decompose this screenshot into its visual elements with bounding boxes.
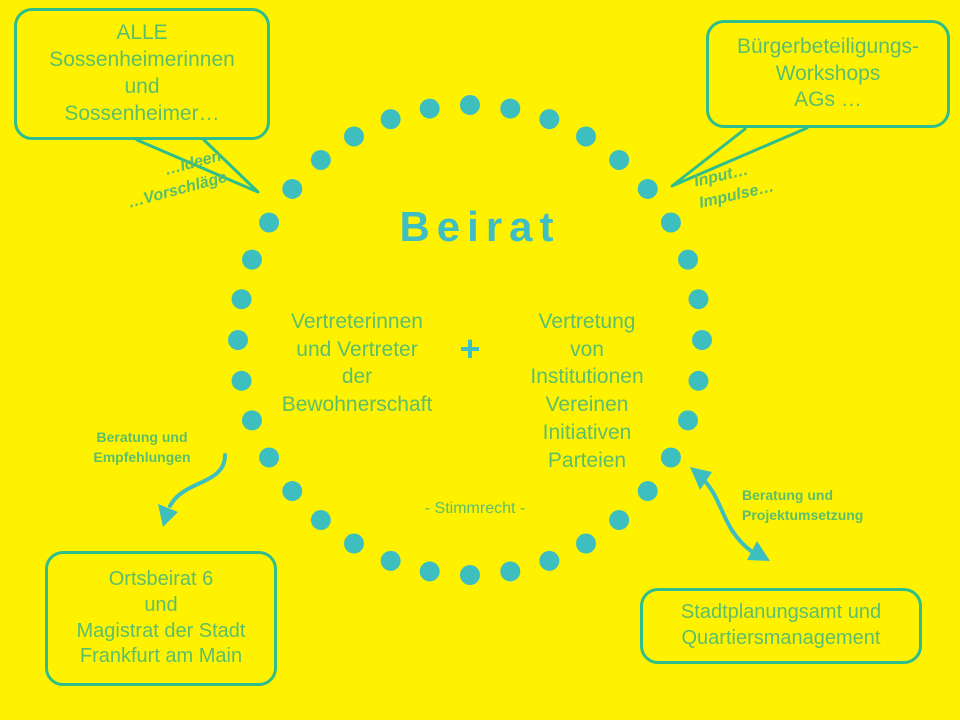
ring-dot bbox=[539, 551, 559, 571]
ring-dot bbox=[500, 99, 520, 119]
callout-all-residents[interactable]: ALLE Sossenheimerinnen und Sossenheimer… bbox=[14, 8, 270, 140]
member-line: und Vertreter bbox=[262, 336, 452, 364]
ring-dot bbox=[242, 250, 262, 270]
callout-stadtplanungsamt[interactable]: Stadtplanungsamt und Quartiersmanagement bbox=[640, 588, 922, 664]
ring-dot bbox=[420, 561, 440, 581]
ring-dot bbox=[282, 481, 302, 501]
ring-dot bbox=[500, 561, 520, 581]
callout-stadtplanungsamt-text: Stadtplanungsamt und Quartiersmanagement bbox=[643, 600, 919, 651]
ring-dot bbox=[576, 534, 596, 554]
callout-ortsbeirat-text: Ortsbeirat 6 und Magistrat der Stadt Fra… bbox=[48, 567, 274, 669]
arrow-beratung-empfehlungen-head bbox=[158, 504, 178, 527]
member-line: Vereinen bbox=[492, 391, 682, 419]
ring-dot bbox=[692, 330, 712, 350]
ring-dot bbox=[638, 179, 658, 199]
callout-line: AGs … bbox=[709, 87, 947, 114]
callout-workshops-text: Bürgerbeteiligungs- Workshops AGs … bbox=[709, 34, 947, 115]
callout-line: Sossenheimerinnen bbox=[17, 47, 267, 74]
ring-dot bbox=[282, 179, 302, 199]
callout-line: ALLE bbox=[17, 20, 267, 47]
ring-dot bbox=[344, 126, 364, 146]
callout-line: Ortsbeirat 6 bbox=[48, 567, 274, 593]
diagram-title: Beirat bbox=[0, 203, 960, 251]
member-line: Institutionen bbox=[492, 363, 682, 391]
ring-dot bbox=[460, 565, 480, 585]
voting-rights-note: - Stimmrecht - bbox=[330, 500, 620, 518]
ring-dot bbox=[539, 109, 559, 129]
member-line: Vertreterinnen bbox=[262, 308, 452, 336]
callout-line: Frankfurt am Main bbox=[48, 644, 274, 670]
member-line: Parteien bbox=[492, 447, 682, 475]
callout-all-residents-text: ALLE Sossenheimerinnen und Sossenheimer… bbox=[17, 20, 267, 128]
callout-ortsbeirat[interactable]: Ortsbeirat 6 und Magistrat der Stadt Fra… bbox=[45, 551, 277, 686]
plus-icon: + bbox=[440, 328, 500, 370]
ring-dot bbox=[381, 109, 401, 129]
ring-dot bbox=[381, 551, 401, 571]
ring-dot bbox=[638, 481, 658, 501]
ring-dot bbox=[228, 330, 248, 350]
arrow-beratung-projektumsetzung-head-up bbox=[690, 467, 712, 490]
diagram-canvas: ALLE Sossenheimerinnen und Sossenheimer…… bbox=[0, 0, 960, 720]
callout-line: Bürgerbeteiligungs- bbox=[709, 34, 947, 61]
ring-dot bbox=[259, 448, 279, 468]
flow-label-line: Projektumsetzung bbox=[742, 507, 863, 523]
ring-dot bbox=[420, 99, 440, 119]
arrow-beratung-projektumsetzung-head-down bbox=[747, 541, 770, 561]
member-line: von bbox=[492, 336, 682, 364]
beirat-members-residents: Vertreterinnen und Vertreter der Bewohne… bbox=[262, 308, 452, 419]
flow-label-beratung-projektumsetzung: Beratung und Projektumsetzung bbox=[742, 486, 917, 525]
flow-label-beratung-empfehlungen: Beratung und Empfehlungen bbox=[72, 428, 212, 467]
ring-dot bbox=[609, 150, 629, 170]
ring-dot bbox=[344, 534, 364, 554]
callout-line: und bbox=[48, 593, 274, 619]
callout-line: Sossenheimer… bbox=[17, 101, 267, 128]
ring-dot bbox=[688, 371, 708, 391]
ring-dot bbox=[232, 371, 252, 391]
beirat-members-institutions: Vertretung von Institutionen Vereinen In… bbox=[492, 308, 682, 474]
ring-dot bbox=[678, 250, 698, 270]
ring-dot bbox=[576, 126, 596, 146]
callout-workshops[interactable]: Bürgerbeteiligungs- Workshops AGs … bbox=[706, 20, 950, 128]
member-line: Bewohnerschaft bbox=[262, 391, 452, 419]
ring-dot bbox=[688, 289, 708, 309]
member-line: Initiativen bbox=[492, 419, 682, 447]
ring-dot bbox=[460, 95, 480, 115]
ring-dot bbox=[232, 289, 252, 309]
flow-label-line: Beratung und bbox=[97, 429, 188, 445]
ring-dot bbox=[242, 410, 262, 430]
member-line: Vertretung bbox=[492, 308, 682, 336]
callout-line: Stadtplanungsamt und bbox=[643, 600, 919, 626]
flow-label-line: Empfehlungen bbox=[93, 449, 190, 465]
member-line: der bbox=[262, 363, 452, 391]
ring-dot bbox=[311, 510, 331, 530]
flow-label-line: Beratung und bbox=[742, 487, 833, 503]
callout-line: Quartiersmanagement bbox=[643, 626, 919, 652]
callout-line: Workshops bbox=[709, 61, 947, 88]
callout-line: Magistrat der Stadt bbox=[48, 619, 274, 645]
callout-line: und bbox=[17, 74, 267, 101]
ring-dot bbox=[311, 150, 331, 170]
